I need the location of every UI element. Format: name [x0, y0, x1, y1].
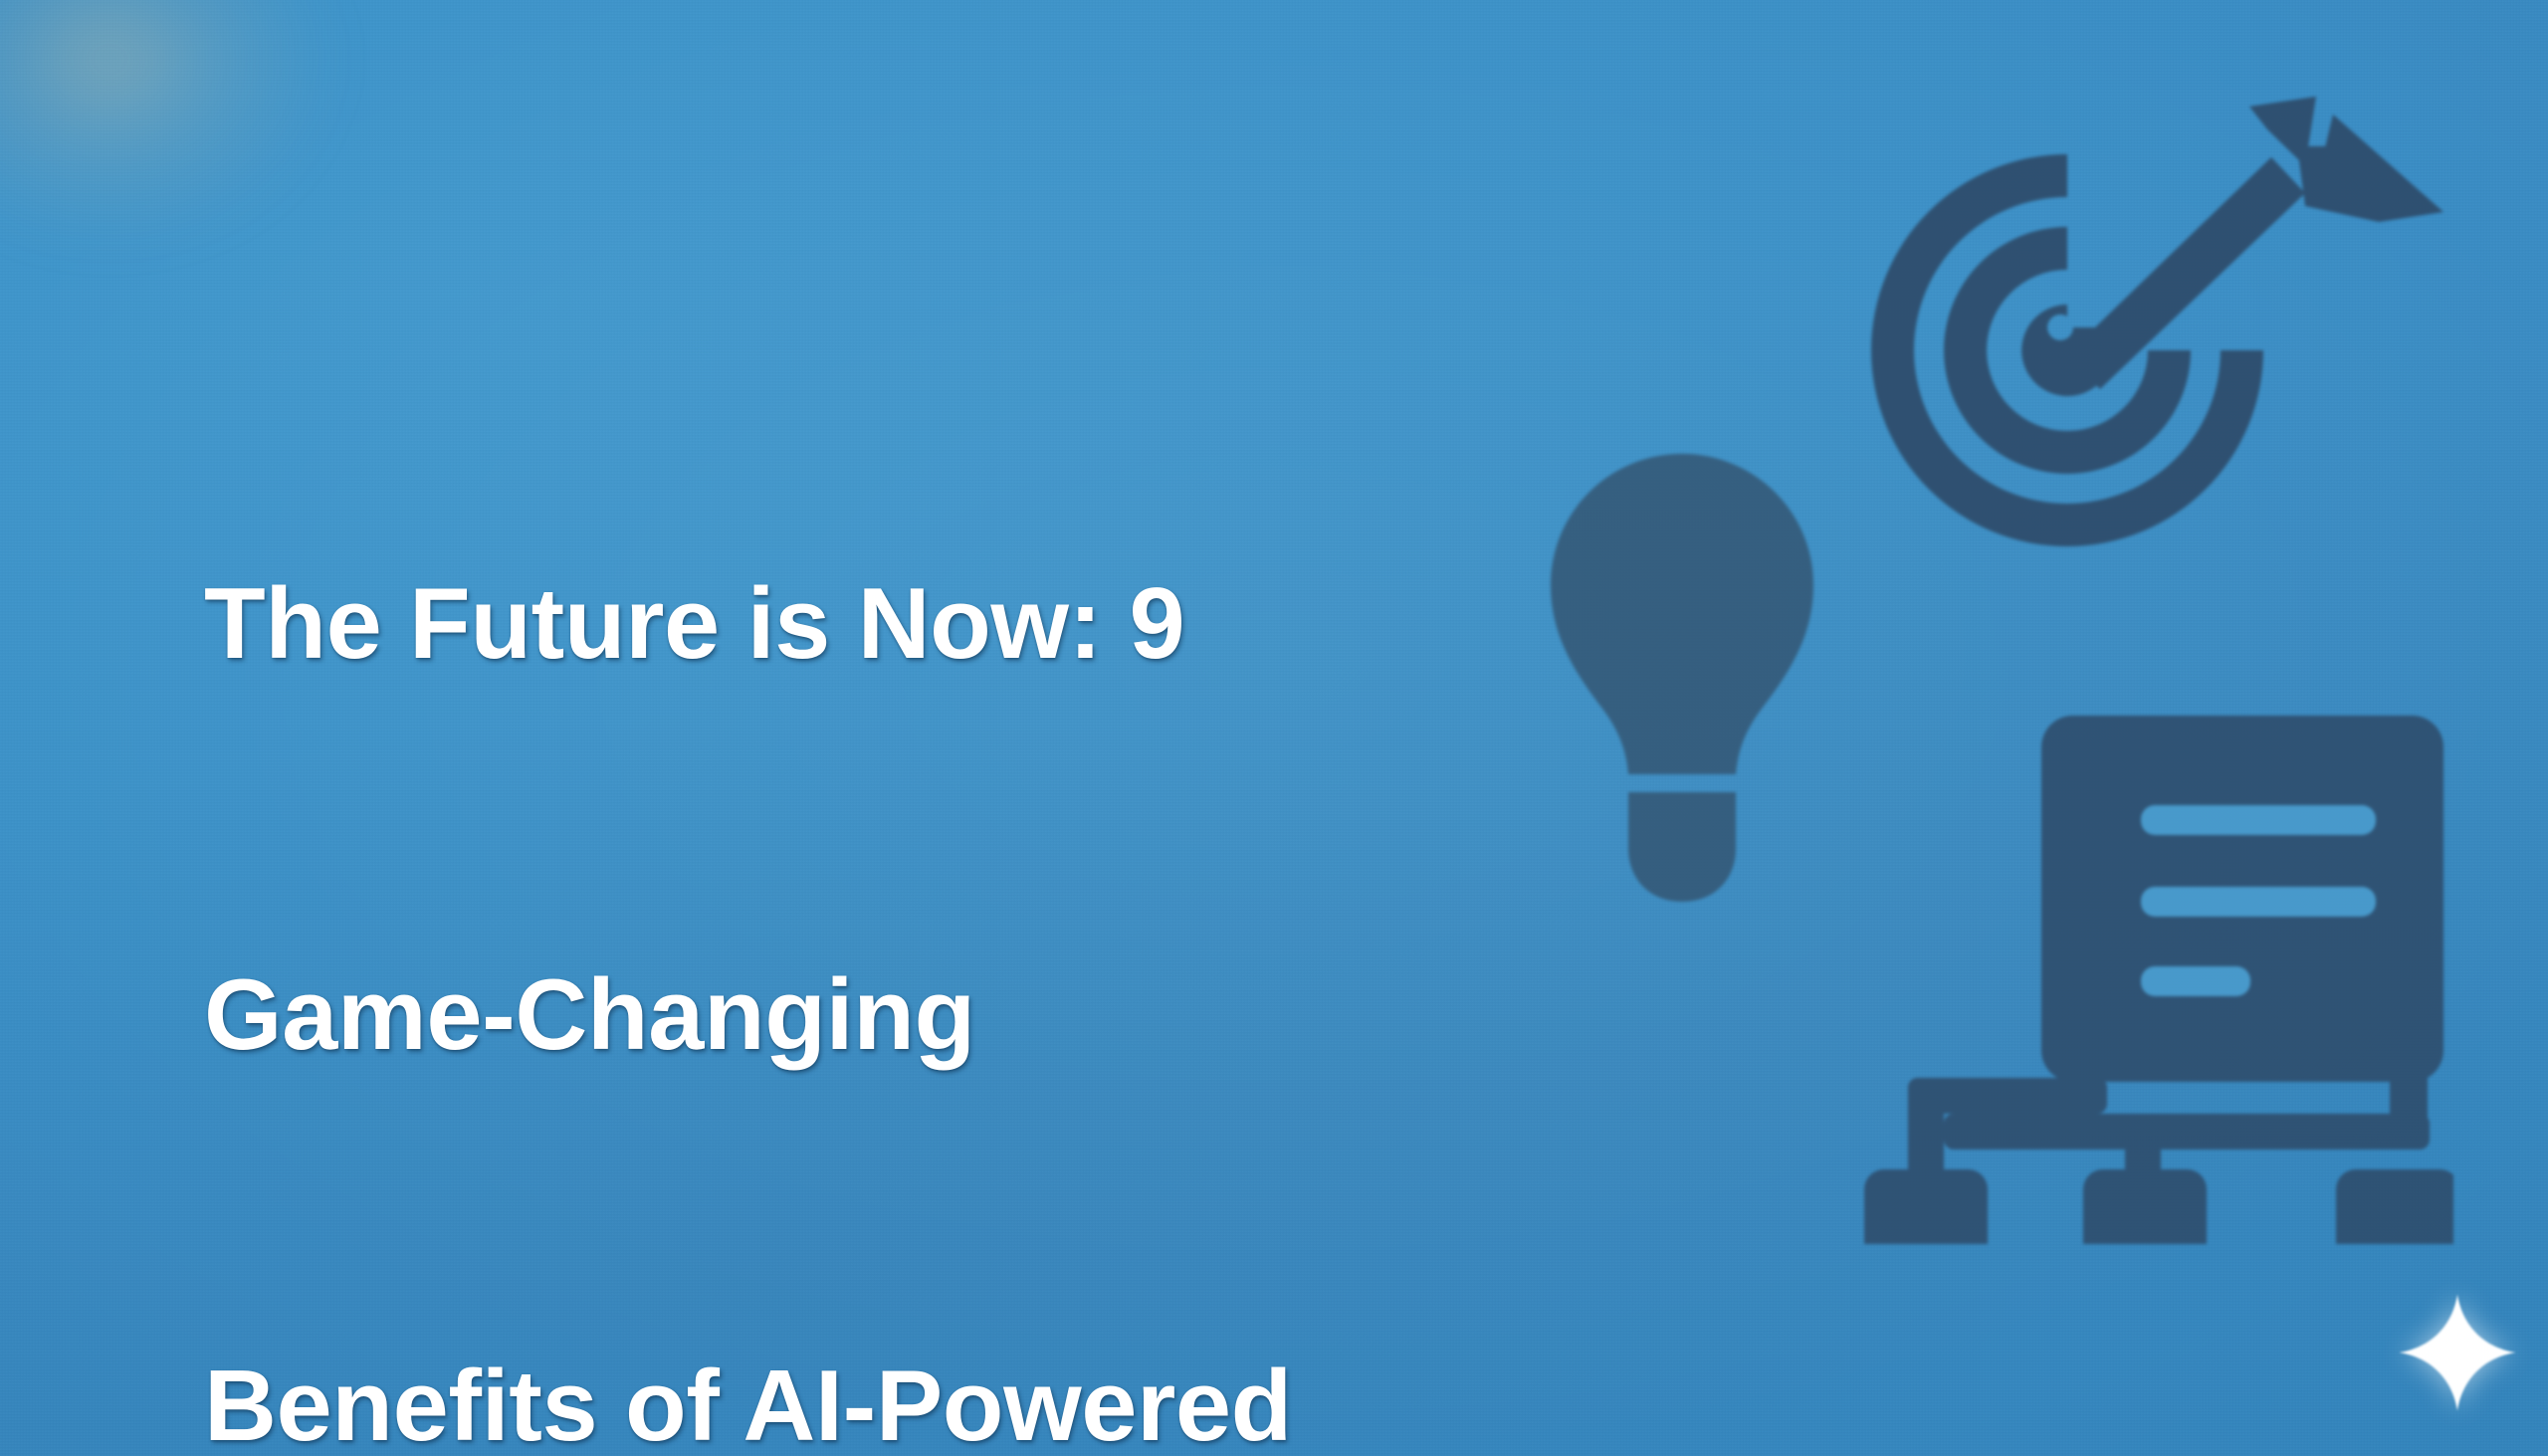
headline-line-1: The Future is Now: 9 [204, 559, 1597, 690]
headline-title: The Future is Now: 9 Game-Changing Benef… [204, 299, 1597, 1456]
headline-line-3: Benefits of AI-Powered [204, 1342, 1597, 1456]
headline-line-2: Game-Changing [204, 950, 1597, 1081]
lightbulb-icon [1533, 438, 1831, 916]
title-card: The Future is Now: 9 Game-Changing Benef… [0, 0, 2548, 1456]
org-chart-icon [1846, 702, 2453, 1244]
target-arrow-icon [1821, 95, 2458, 672]
sparkle-icon [2397, 1292, 2518, 1413]
